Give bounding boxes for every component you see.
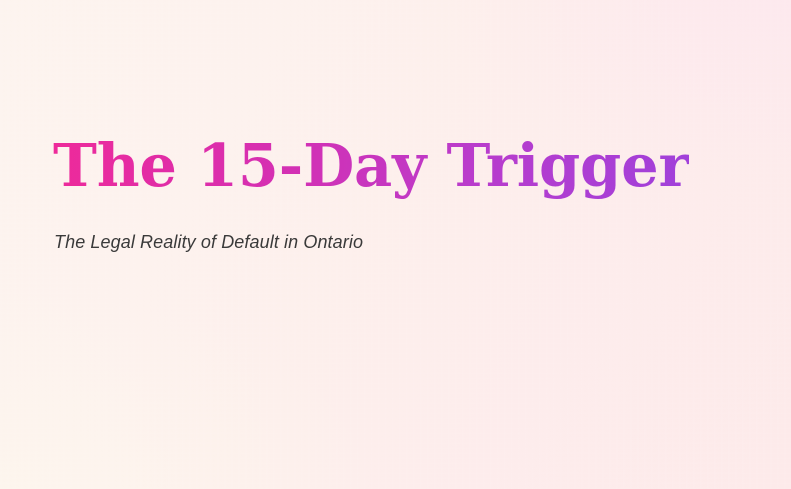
- slide-subtitle: The Legal Reality of Default in Ontario: [54, 229, 363, 255]
- title-slide: The 15-Day Trigger The Legal Reality of …: [0, 0, 791, 489]
- slide-title: The 15-Day Trigger: [53, 131, 689, 201]
- slide-content: The 15-Day Trigger The Legal Reality of …: [53, 0, 753, 489]
